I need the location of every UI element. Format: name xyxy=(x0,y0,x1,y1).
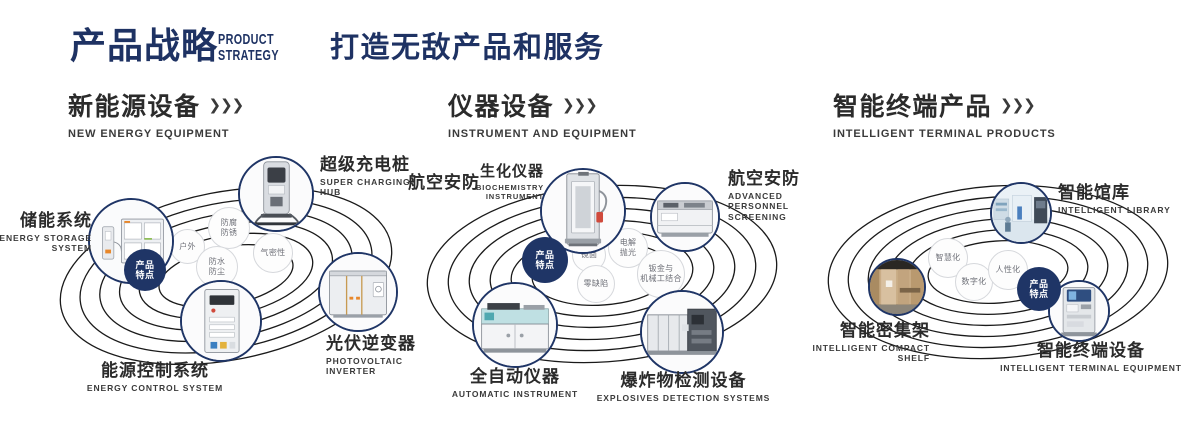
page-header: 产品战略 PRODUCT STRATEGY 打造无敌产品和服务 xyxy=(0,0,1200,86)
feature-bubble-zero-defect: 零缺陷 xyxy=(577,265,615,303)
core-bubble-product-features[interactable]: 产品 特点 xyxy=(1018,268,1060,310)
chevron-right-icon: ❯❯❯ xyxy=(1000,96,1035,114)
core-bubble-product-features[interactable]: 产品 特点 xyxy=(523,238,567,282)
caption-cn: 智能馆库 xyxy=(1058,184,1171,203)
caption-automatic-instrument: 全自动仪器 AUTOMATIC INSTRUMENT xyxy=(418,368,612,399)
caption-en: ADVANCED PERSONNEL SCREENING xyxy=(728,191,810,223)
chevron-right-icon: ❯❯❯ xyxy=(209,96,244,114)
caption-cn: 光伏逆变器 xyxy=(326,335,430,354)
screening-machine-icon xyxy=(652,184,718,250)
section-title-cn: 智能终端产品 xyxy=(833,95,992,120)
library-room-icon xyxy=(992,184,1050,242)
auto-analyzer-icon xyxy=(474,284,556,366)
caption-intelligent-terminal-equipment: 智能终端设备 INTELLIGENT TERMINAL EQUIPMENT xyxy=(982,342,1200,373)
caption-en: AUTOMATIC INSTRUMENT xyxy=(418,389,612,400)
feature-bubble-airtightness: 气密性 xyxy=(253,233,293,273)
section-title-en: INSTRUMENT AND EQUIPMENT xyxy=(448,128,637,140)
caption-cn: 爆炸物检测设备 xyxy=(586,372,781,391)
control-cabinet-icon xyxy=(182,282,260,360)
caption-en: PHOTOVOLTAIC INVERTER xyxy=(326,356,430,377)
page-subtitle: 打造无敌产品和服务 xyxy=(330,34,605,63)
caption-energy-storage-system: 储能系统 ENERGY STORAGE SYSTEM xyxy=(0,212,92,254)
page-title-english: PRODUCT STRATEGY xyxy=(218,32,279,64)
section-title-cn: 新能源设备 xyxy=(68,95,201,120)
caption-intelligent-library: 智能馆库 INTELLIGENT LIBRARY xyxy=(1058,184,1171,215)
product-strategy-infographic: 产品战略 PRODUCT STRATEGY 打造无敌产品和服务 新能源设备❯❯❯… xyxy=(0,0,1200,422)
cluster-instrument: 生化仪器 BIOCHEMISTRY INSTRUMENT 航空安防 航空安防 A… xyxy=(400,150,810,410)
caption-cn: 超级充电桩 xyxy=(320,156,430,175)
caption-en: ENERGY STORAGE SYSTEM xyxy=(0,233,92,254)
caption-explosives-detection-systems: 爆炸物检测设备 EXPLOSIVES DETECTION SYSTEMS xyxy=(586,372,781,403)
caption-en: INTELLIGENT TERMINAL EQUIPMENT xyxy=(982,363,1200,374)
cluster-intelligent-terminal: 智能馆库 INTELLIGENT LIBRARY 智能密集架 INTELLIGE… xyxy=(800,150,1200,410)
compact-shelf-icon xyxy=(870,260,924,314)
caption-cn: 智能密集架 xyxy=(790,322,930,341)
node-automatic-instrument[interactable] xyxy=(472,282,558,368)
caption-en: EXPLOSIVES DETECTION SYSTEMS xyxy=(586,393,781,404)
caption-photovoltaic-inverter: 光伏逆变器 PHOTOVOLTAIC INVERTER xyxy=(326,335,430,377)
core-bubble-product-features[interactable]: 产品 特点 xyxy=(125,250,165,290)
caption-energy-control-system: 能源控制系统 ENERGY CONTROL SYSTEM xyxy=(60,362,250,393)
node-intelligent-library[interactable] xyxy=(990,182,1052,244)
caption-cn: 航空安防 xyxy=(728,170,810,189)
charging-pile-icon xyxy=(240,158,312,230)
chevron-right-icon: ❯❯❯ xyxy=(562,96,597,114)
explosive-detector-icon xyxy=(642,292,722,372)
caption-cn: 能源控制系统 xyxy=(60,362,250,381)
section-heading-intelligent-terminal: 智能终端产品❯❯❯ INTELLIGENT TERMINAL PRODUCTS xyxy=(833,95,1056,140)
pv-inverter-icon xyxy=(320,254,396,330)
caption-en: INTELLIGENT COMPACT SHELF xyxy=(790,343,930,364)
caption-advanced-personnel-screening: 航空安防 ADVANCED PERSONNEL SCREENING xyxy=(728,170,810,223)
caption-cn: 智能终端设备 xyxy=(982,342,1200,361)
node-explosives-detection-systems[interactable] xyxy=(640,290,724,374)
caption-en: INTELLIGENT LIBRARY xyxy=(1058,205,1171,216)
section-title-en: NEW ENERGY EQUIPMENT xyxy=(68,128,243,140)
node-intelligent-compact-shelf[interactable] xyxy=(868,258,926,316)
section-heading-new-energy: 新能源设备❯❯❯ NEW ENERGY EQUIPMENT xyxy=(68,95,243,140)
caption-cn: 全自动仪器 xyxy=(418,368,612,387)
node-energy-control-system[interactable] xyxy=(180,280,262,362)
section-title-en: INTELLIGENT TERMINAL PRODUCTS xyxy=(833,128,1056,140)
page-title: 产品战略 xyxy=(70,28,218,64)
caption-aviation-security-extra: 航空安防 xyxy=(408,174,480,193)
caption-intelligent-compact-shelf: 智能密集架 INTELLIGENT COMPACT SHELF xyxy=(790,322,930,364)
cluster-new-energy: 储能系统 ENERGY STORAGE SYSTEM 超级充电桩 SUPER C… xyxy=(30,150,430,410)
caption-en: ENERGY CONTROL SYSTEM xyxy=(60,383,250,394)
node-super-charging-hub[interactable] xyxy=(238,156,314,232)
section-heading-instrument: 仪器设备❯❯❯ INSTRUMENT AND EQUIPMENT xyxy=(448,95,637,140)
section-title-cn: 仪器设备 xyxy=(448,95,554,120)
caption-cn: 储能系统 xyxy=(0,212,92,231)
node-photovoltaic-inverter[interactable] xyxy=(318,252,398,332)
node-advanced-personnel-screening[interactable] xyxy=(650,182,720,252)
caption-cn: 航空安防 xyxy=(408,174,480,193)
